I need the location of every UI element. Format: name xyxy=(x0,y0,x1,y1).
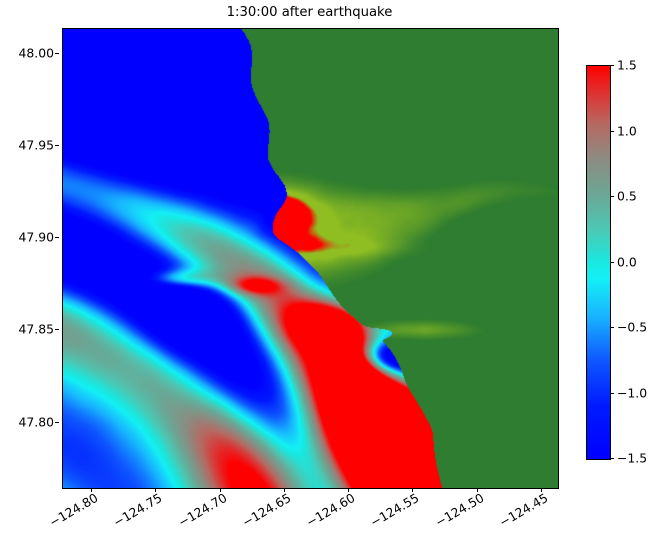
map-plot-area[interactable] xyxy=(62,28,559,489)
x-axis-tick-labels: −124.80−124.75−124.70−124.65−124.60−124.… xyxy=(62,490,557,540)
x-tick-mark xyxy=(477,488,478,492)
colorbar-tick-label: 1.0 xyxy=(617,123,637,138)
x-tick-mark xyxy=(91,488,92,492)
colorbar-tick-mark xyxy=(610,393,614,394)
y-axis-tick-labels: 48.0047.9547.9047.8547.80 xyxy=(0,28,54,487)
colorbar-tick-mark xyxy=(610,65,614,66)
colorbar-tick-mark xyxy=(610,458,614,459)
x-tick-mark xyxy=(348,488,349,492)
colorbar-tick-label: 1.5 xyxy=(617,58,637,73)
colorbar-tick-label: 0.0 xyxy=(617,254,637,269)
colorbar-tick-mark xyxy=(610,131,614,132)
chart-title: 1:30:00 after earthquake xyxy=(62,5,557,20)
y-tick-mark xyxy=(55,422,59,423)
colorbar-tick-mark xyxy=(610,262,614,263)
x-tick-mark xyxy=(220,488,221,492)
x-tick-label: −124.45 xyxy=(489,490,550,534)
x-tick-label: −124.75 xyxy=(104,490,165,534)
colorbar-tick-label: 0.5 xyxy=(617,189,637,204)
y-tick-mark xyxy=(55,53,59,54)
x-tick-label: −124.60 xyxy=(296,490,357,534)
x-tick-mark xyxy=(412,488,413,492)
y-tick-label: 47.95 xyxy=(19,138,54,153)
figure-canvas: 1:30:00 after earthquake 48.0047.9547.90… xyxy=(0,0,658,541)
y-tick-label: 48.00 xyxy=(19,45,54,60)
x-tick-mark xyxy=(284,488,285,492)
y-tick-label: 47.90 xyxy=(19,230,54,245)
x-tick-mark xyxy=(155,488,156,492)
colorbar-tick-label: −1.5 xyxy=(617,451,647,466)
colorbar-tick-mark xyxy=(610,196,614,197)
x-tick-label: −124.55 xyxy=(361,490,422,534)
x-tick-label: −124.70 xyxy=(168,490,229,534)
x-tick-label: −124.80 xyxy=(39,490,100,534)
colorbar-tick-label: −1.0 xyxy=(617,385,647,400)
colorbar[interactable] xyxy=(586,65,611,460)
y-tick-label: 47.85 xyxy=(19,322,54,337)
y-tick-label: 47.80 xyxy=(19,414,54,429)
tsunami-elevation-heatmap xyxy=(63,29,558,488)
colorbar-tick-mark xyxy=(610,327,614,328)
y-tick-mark xyxy=(55,237,59,238)
x-tick-label: −124.65 xyxy=(232,490,293,534)
x-tick-mark xyxy=(541,488,542,492)
colorbar-tick-label: −0.5 xyxy=(617,320,647,335)
y-tick-mark xyxy=(55,145,59,146)
x-tick-label: −124.50 xyxy=(425,490,486,534)
colorbar-gradient xyxy=(587,66,610,459)
y-tick-mark xyxy=(55,329,59,330)
